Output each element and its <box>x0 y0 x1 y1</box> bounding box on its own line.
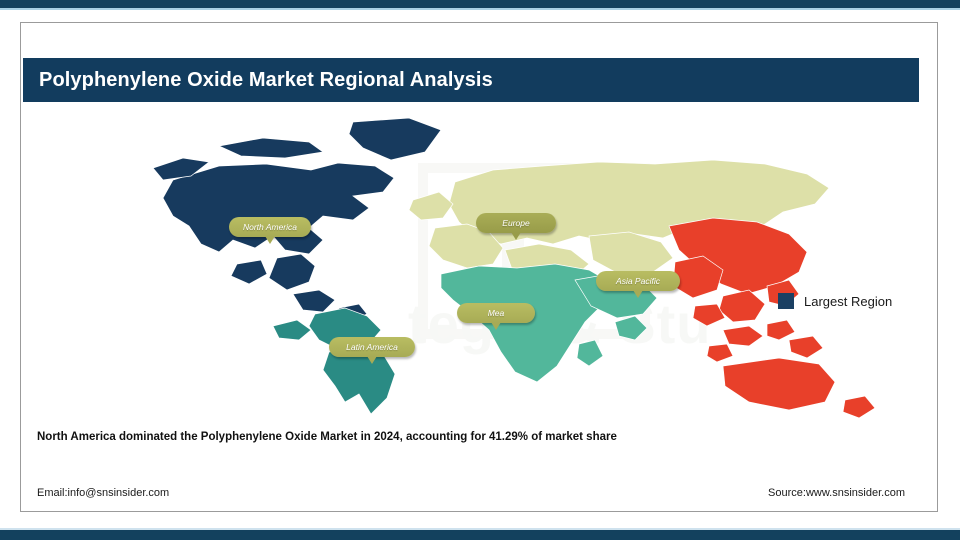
map-label-mea[interactable]: Mea <box>457 303 535 323</box>
footer-source: Source:www.snsinsider.com <box>768 487 905 499</box>
map-label-text: Europe <box>502 218 529 228</box>
footer-email: Email:info@snsinsider.com <box>37 487 169 499</box>
bottom-accent-bar <box>0 530 960 540</box>
map-label-asia-pacific[interactable]: Asia Pacific <box>596 271 680 291</box>
map-label-latin-america[interactable]: Latin America <box>329 337 415 357</box>
region-asia-pacific <box>669 218 875 418</box>
slide-root: Polyphenylene Oxide Market Regional Anal… <box>0 0 960 540</box>
legend: Largest Region <box>778 293 892 309</box>
map-label-europe[interactable]: Europe <box>476 213 556 233</box>
caption-text: North America dominated the Polyphenylen… <box>23 431 919 443</box>
top-accent-underline <box>0 8 960 10</box>
map-svg <box>23 108 919 428</box>
map-label-north-america[interactable]: North America <box>229 217 311 237</box>
content-card: Polyphenylene Oxide Market Regional Anal… <box>20 22 938 512</box>
page-title: Polyphenylene Oxide Market Regional Anal… <box>23 69 493 92</box>
header-bar: Polyphenylene Oxide Market Regional Anal… <box>23 58 919 102</box>
world-map: tegic & Stu <box>23 108 919 428</box>
map-label-text: Latin America <box>346 342 398 352</box>
footer: Email:info@snsinsider.com Source:www.sns… <box>23 478 919 508</box>
map-label-text: North America <box>243 222 297 232</box>
map-label-text: Mea <box>488 308 505 318</box>
map-label-text: Asia Pacific <box>616 276 660 286</box>
top-accent-bar <box>0 0 960 8</box>
legend-label-largest-region: Largest Region <box>804 294 892 309</box>
legend-swatch-largest-region <box>778 293 794 309</box>
